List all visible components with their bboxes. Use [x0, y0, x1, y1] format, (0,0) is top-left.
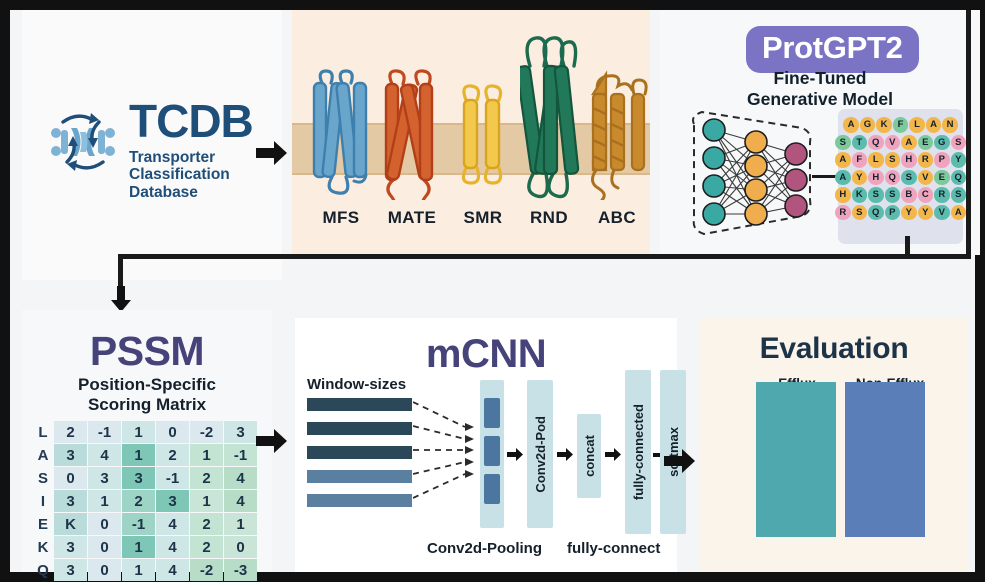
pssm-cell: -1	[224, 444, 257, 466]
pssm-cell: 3	[156, 490, 189, 512]
pssm-cell: 1	[190, 444, 223, 466]
dashed-connectors	[413, 392, 478, 516]
feature-map-2	[484, 436, 500, 466]
pssm-cell: 0	[156, 421, 189, 443]
protgpt2-subtitle-line1: Fine-Tuned	[660, 68, 980, 89]
amino-acid-residue: V	[918, 170, 934, 186]
conv2d-pod-label: Conv2d-Pod	[533, 416, 548, 493]
pssm-cell: 0	[54, 467, 87, 489]
amino-acid-residue: C	[918, 187, 934, 203]
pssm-cell: 0	[88, 536, 121, 558]
tcdb-subtitle-line1: Transporter	[129, 149, 253, 167]
amino-acid-residue: S	[852, 205, 868, 221]
pssm-cell: 2	[156, 444, 189, 466]
window-sizes-label: Window-sizes	[307, 376, 406, 393]
amino-acid-residue: Y	[918, 205, 934, 221]
amino-acid-residue: V	[885, 135, 901, 151]
sequence-row: STQVAEGS	[845, 135, 956, 151]
pssm-cell: 1	[190, 490, 223, 512]
amino-acid-residue: A	[901, 135, 917, 151]
figure-top-border	[0, 0, 985, 10]
mcnn-panel: mCNN Window-sizes Conv2d-	[295, 318, 677, 572]
transporter-abc-icon	[588, 70, 648, 205]
pssm-row: EK0-1421	[33, 513, 257, 535]
concat-label: concat	[582, 435, 597, 477]
amino-acid-residue: L	[868, 152, 884, 168]
pssm-subtitle-line2: Scoring Matrix	[22, 395, 272, 415]
pssm-cell: -2	[190, 559, 223, 581]
pssm-row: L2-110-23	[33, 421, 257, 443]
evaluation-title: Evaluation	[700, 332, 968, 366]
amino-acid-residue: S	[868, 187, 884, 203]
pssm-cell: K	[54, 513, 87, 535]
pssm-row-label: A	[33, 444, 53, 466]
feature-map-3	[484, 474, 500, 504]
pssm-row: A34121-1	[33, 444, 257, 466]
window-size-bar-2	[307, 422, 412, 435]
transporter-label-mfs: MFS	[300, 208, 382, 228]
window-size-bar-4	[307, 470, 412, 483]
pssm-row: Q3014-2-3	[33, 559, 257, 581]
pssm-cell: 3	[54, 444, 87, 466]
sequence-row: AFLSHRPY	[845, 152, 956, 168]
transporter-label-smr: SMR	[450, 208, 516, 228]
pssm-cell: 3	[122, 467, 155, 489]
amino-acid-residue: T	[852, 135, 868, 151]
tcdb-subtitle-line3: Database	[129, 184, 253, 202]
amino-acid-residue: R	[835, 205, 851, 221]
pssm-row: K301420	[33, 536, 257, 558]
generated-sequence-grid: AGKFLANSTQVAEGSAFLSHRPYAYHQSVEQHKSSBCRSR…	[838, 109, 963, 244]
amino-acid-residue: S	[901, 170, 917, 186]
transporter-smr-icon	[458, 82, 504, 197]
neural-network-diagram	[684, 102, 834, 242]
concat-block: concat	[577, 414, 601, 498]
pssm-cell: 3	[54, 536, 87, 558]
sequence-row: RSQPYYVA	[845, 205, 956, 221]
sequence-row: AGKFLAN	[845, 117, 956, 133]
arrow-pssm-to-mcnn	[256, 428, 288, 459]
pssm-cell: 4	[156, 513, 189, 535]
amino-acid-residue: A	[926, 117, 942, 133]
amino-acid-residue: R	[934, 187, 950, 203]
amino-acid-residue: F	[852, 152, 868, 168]
amino-acid-residue: Q	[868, 205, 884, 221]
amino-acid-residue: Y	[901, 205, 917, 221]
window-size-bar-1	[307, 398, 412, 411]
protgpt2-panel: ProtGPT2 Fine-Tuned Generative Model	[660, 10, 980, 255]
amino-acid-residue: H	[868, 170, 884, 186]
pssm-row: I312314	[33, 490, 257, 512]
arrow-mcnn-to-evaluation	[664, 448, 696, 479]
pssm-title: PSSM	[22, 328, 272, 375]
amino-acid-residue: S	[885, 152, 901, 168]
amino-acid-residue: B	[901, 187, 917, 203]
transporter-mate-icon	[382, 68, 438, 205]
pssm-cell: 1	[122, 444, 155, 466]
transporter-rnd-icon	[520, 28, 580, 213]
pssm-row-label: L	[33, 421, 53, 443]
connector-horizontal	[118, 254, 971, 259]
pssm-cell: 2	[190, 536, 223, 558]
amino-acid-residue: E	[918, 135, 934, 151]
sequence-row: AYHQSVEQ	[845, 170, 956, 186]
amino-acid-residue: V	[934, 205, 950, 221]
pssm-cell: -3	[224, 559, 257, 581]
pssm-panel: PSSM Position-Specific Scoring Matrix L2…	[22, 310, 272, 572]
mcnn-title: mCNN	[295, 332, 677, 377]
tcdb-title: TCDB	[129, 100, 253, 144]
amino-acid-residue: S	[885, 187, 901, 203]
amino-acid-residue: S	[951, 187, 967, 203]
amino-acid-residue: G	[934, 135, 950, 151]
sequence-row: HKSSBCRS	[845, 187, 956, 203]
amino-acid-residue: K	[852, 187, 868, 203]
pssm-row-label: K	[33, 536, 53, 558]
feature-map-1	[484, 398, 500, 428]
amino-acid-residue: G	[860, 117, 876, 133]
connector-right-vertical	[966, 10, 971, 258]
evaluation-bar-efflux	[756, 382, 836, 537]
amino-acid-residue: Y	[951, 152, 967, 168]
amino-acid-residue: Y	[852, 170, 868, 186]
amino-acid-residue: A	[835, 152, 851, 168]
pssm-cell: 1	[224, 513, 257, 535]
pssm-cell: 4	[224, 467, 257, 489]
pssm-cell: 0	[224, 536, 257, 558]
amino-acid-residue: S	[835, 135, 851, 151]
amino-acid-residue: H	[835, 187, 851, 203]
amino-acid-residue: L	[909, 117, 925, 133]
transporter-label-rnd: RND	[514, 208, 584, 228]
amino-acid-residue: S	[951, 135, 967, 151]
arrow-conv-to-concat	[557, 448, 574, 466]
pssm-cell: 1	[122, 536, 155, 558]
arrow-featuremap-to-conv	[507, 448, 524, 466]
arrow-tcdb-to-membrane	[256, 140, 288, 171]
fully-connected-block: fully-connected	[625, 370, 651, 534]
fully-connected-label: fully-connected	[631, 404, 646, 500]
tcdb-subtitle-line2: Classification	[129, 166, 253, 184]
amino-acid-residue: A	[843, 117, 859, 133]
pssm-cell: -2	[190, 421, 223, 443]
figure-left-border	[0, 0, 10, 582]
pssm-matrix-table: L2-110-23A34121-1S033-124I312314EK0-1421…	[32, 420, 258, 582]
conv2d-pod-block: Conv2d-Pod	[527, 380, 553, 528]
amino-acid-residue: Q	[868, 135, 884, 151]
pssm-cell: 3	[88, 467, 121, 489]
pssm-row-label: S	[33, 467, 53, 489]
window-size-bar-5	[307, 494, 412, 507]
figure-root: TCDB Transporter Classification Database	[0, 0, 985, 582]
conv2d-pooling-caption: Conv2d-Pooling	[427, 540, 542, 557]
fully-connect-caption: fully-connect	[567, 540, 660, 557]
pssm-cell: 4	[224, 490, 257, 512]
pssm-cell: 3	[54, 490, 87, 512]
amino-acid-residue: E	[934, 170, 950, 186]
pssm-cell: 2	[190, 467, 223, 489]
amino-acid-residue: P	[934, 152, 950, 168]
pssm-cell: 1	[122, 421, 155, 443]
amino-acid-residue: Q	[951, 170, 967, 186]
pssm-row-label: I	[33, 490, 53, 512]
arrow-concat-to-fc	[605, 448, 622, 466]
pssm-cell: 4	[156, 536, 189, 558]
pssm-row: S033-124	[33, 467, 257, 489]
amino-acid-residue: N	[942, 117, 958, 133]
pssm-subtitle-line1: Position-Specific	[22, 375, 272, 395]
pssm-cell: 1	[122, 559, 155, 581]
amino-acid-residue: A	[835, 170, 851, 186]
transporter-mfs-icon	[310, 65, 372, 205]
amino-acid-residue: P	[885, 205, 901, 221]
evaluation-panel: Evaluation Efflux Non-Efflux	[700, 318, 968, 572]
pssm-cell: 2	[54, 421, 87, 443]
tcdb-mark-icon	[47, 106, 119, 178]
amino-acid-residue: F	[893, 117, 909, 133]
pssm-cell: 4	[88, 444, 121, 466]
pssm-cell: 3	[224, 421, 257, 443]
pssm-cell: -1	[156, 467, 189, 489]
pssm-cell: -1	[88, 421, 121, 443]
transporter-label-abc: ABC	[580, 208, 654, 228]
pssm-cell: 2	[190, 513, 223, 535]
pssm-cell: -1	[122, 513, 155, 535]
pssm-row-label: E	[33, 513, 53, 535]
pssm-cell: 1	[88, 490, 121, 512]
protgpt2-badge: ProtGPT2	[746, 26, 919, 73]
amino-acid-residue: R	[918, 152, 934, 168]
amino-acid-residue: A	[951, 205, 967, 221]
evaluation-bar-non-efflux	[845, 382, 925, 537]
amino-acid-residue: H	[901, 152, 917, 168]
pssm-cell: 2	[122, 490, 155, 512]
pssm-row-label: Q	[33, 559, 53, 581]
window-size-bar-3	[307, 446, 412, 459]
transporter-label-mate: MATE	[376, 208, 448, 228]
pssm-cell: 0	[88, 513, 121, 535]
pssm-cell: 0	[88, 559, 121, 581]
membrane-transporters-panel: MFS MATE	[292, 10, 650, 255]
tcdb-logo: TCDB Transporter Classification Database	[47, 100, 253, 202]
tcdb-panel: TCDB Transporter Classification Database	[22, 10, 282, 280]
amino-acid-residue: K	[876, 117, 892, 133]
pssm-cell: 4	[156, 559, 189, 581]
pssm-cell: 3	[54, 559, 87, 581]
amino-acid-residue: Q	[885, 170, 901, 186]
